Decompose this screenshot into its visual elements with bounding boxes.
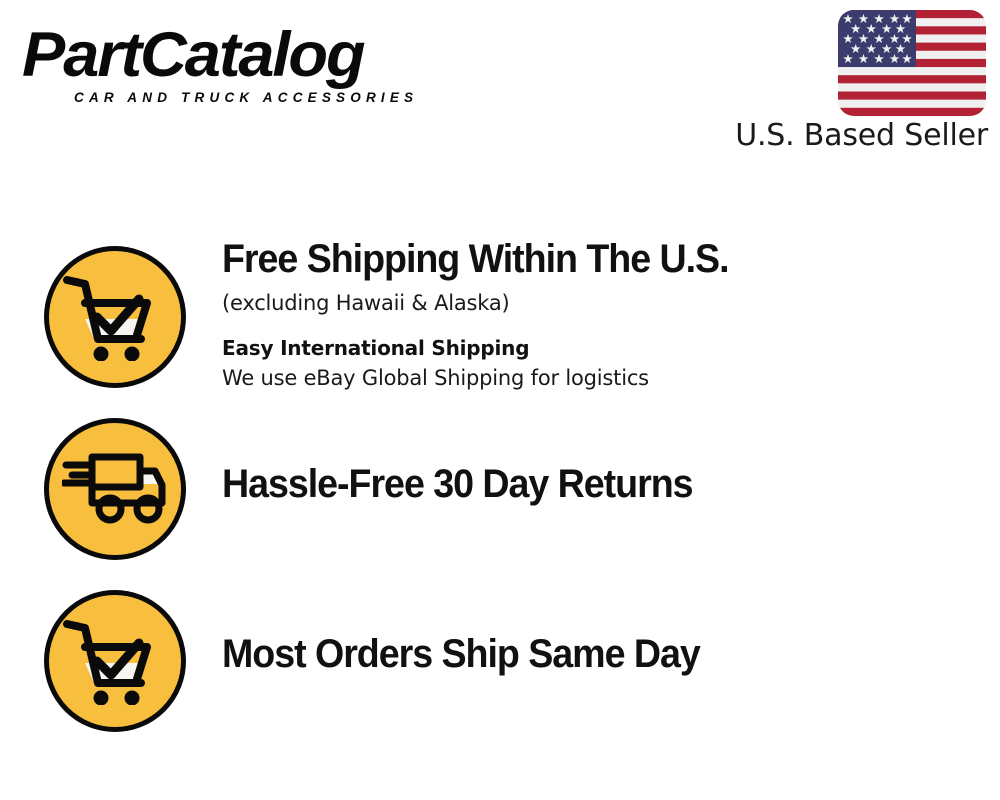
us-flag-icon — [838, 10, 986, 116]
brand-wordmark: PartCatalog — [22, 22, 506, 88]
page-header: PartCatalog CAR AND TRUCK ACCESSORIES — [0, 0, 1000, 170]
shopping-cart-check-icon — [44, 590, 186, 732]
feature-title: Free Shipping Within The U.S. — [222, 236, 944, 282]
us-based-seller-label: U.S. Based Seller — [726, 118, 988, 154]
feature-row: Most Orders Ship Same Day — [0, 578, 1000, 748]
brand-logo[interactable]: PartCatalog CAR AND TRUCK ACCESSORIES — [22, 22, 492, 105]
feature-strong-line: Easy International Shipping — [222, 334, 990, 362]
feature-title: Hassle-Free 30 Day Returns — [222, 461, 944, 507]
feature-detail: We use eBay Global Shipping for logistic… — [222, 363, 990, 393]
feature-row: Free Shipping Within The U.S. (excluding… — [0, 236, 1000, 412]
shopping-cart-check-icon — [44, 246, 186, 388]
feature-title: Most Orders Ship Same Day — [222, 631, 944, 677]
brand-tagline: CAR AND TRUCK ACCESSORIES — [74, 90, 492, 105]
feature-text: Most Orders Ship Same Day — [222, 631, 990, 677]
feature-text: Free Shipping Within The U.S. (excluding… — [222, 236, 990, 393]
feature-text: Hassle-Free 30 Day Returns — [222, 461, 990, 507]
feature-subtitle: (excluding Hawaii & Alaska) — [222, 288, 990, 318]
feature-row: Hassle-Free 30 Day Returns — [0, 409, 1000, 579]
delivery-truck-icon — [44, 418, 186, 560]
